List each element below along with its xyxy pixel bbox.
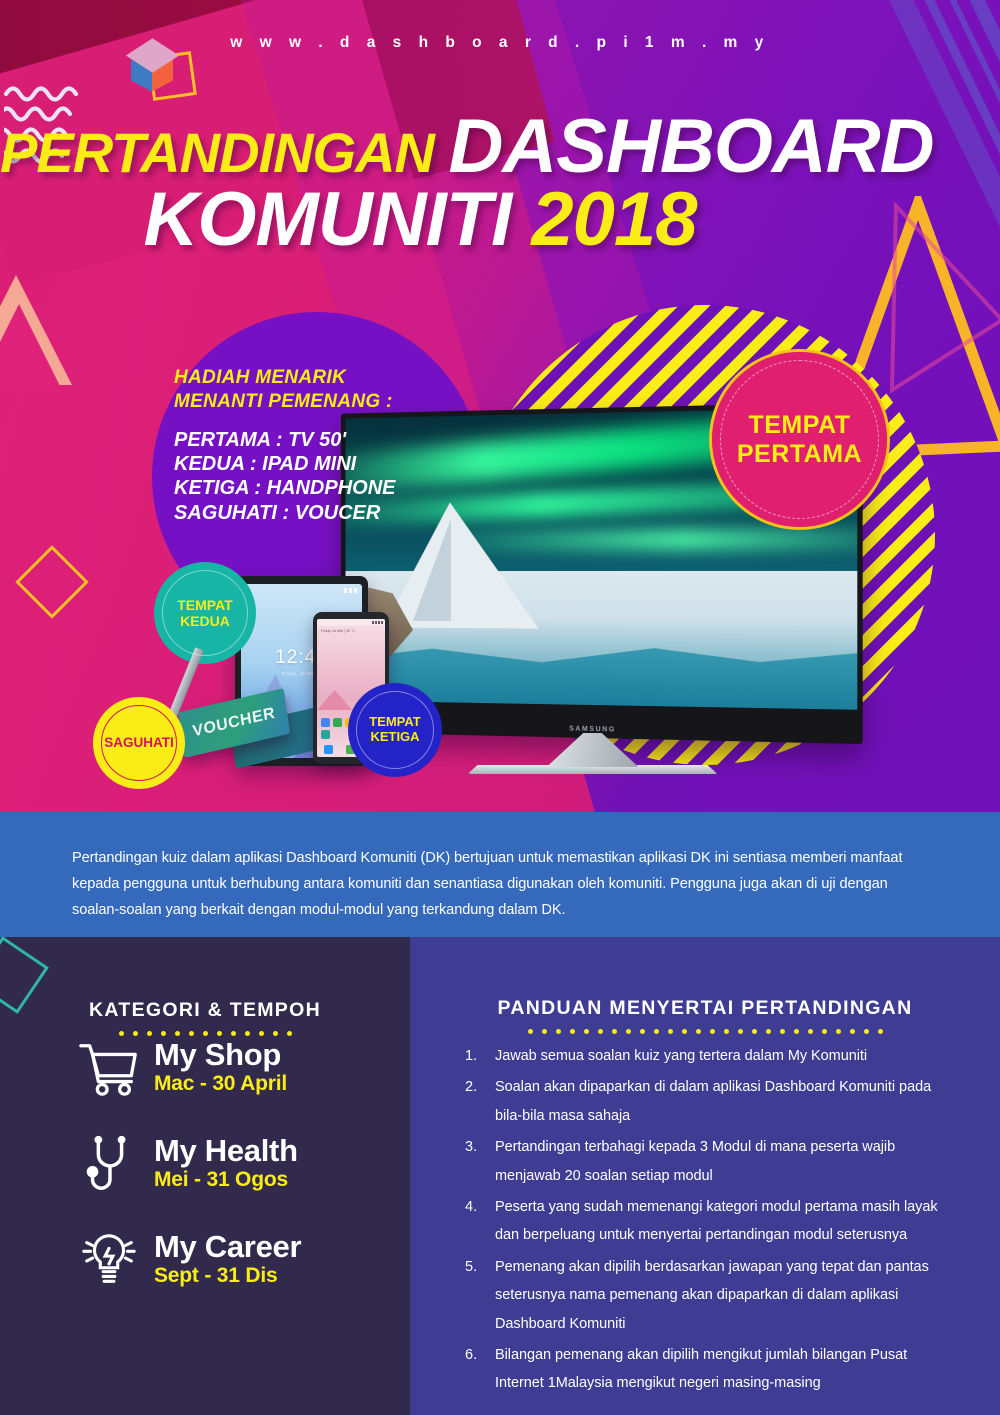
prize-item-4: SAGUHATI : VOUCER (174, 501, 504, 525)
category-item-my-career: My Career Sept - 31 Dis (0, 1229, 410, 1291)
category-period: Sept - 31 Dis (154, 1264, 301, 1288)
categories-heading: KATEGORI & TEMPOH (0, 999, 410, 1022)
guideline-text: Pemenang akan dipilih berdasarkan jawapa… (495, 1253, 950, 1338)
title-year: 2018 (531, 177, 696, 262)
guideline-text: Bilangan pemenang akan dipilih mengikut … (495, 1341, 950, 1398)
category-item-my-shop: My Shop Mac - 30 April (0, 1037, 410, 1099)
badge-second-line-1: TEMPAT (177, 597, 232, 613)
prize-heading-line-2: menanti pemenang : (174, 390, 504, 414)
prize-heading-line-1: Hadiah menarik (174, 366, 504, 390)
badge-first-line-1: TEMPAT (748, 411, 850, 440)
title-pertandingan: PERTANDINGAN (0, 121, 449, 184)
lightbulb-icon (78, 1229, 140, 1291)
phone-status-bar (317, 619, 385, 626)
prize-item-1: PERTAMA : TV 50' (174, 428, 504, 452)
stethoscope-icon (78, 1133, 140, 1195)
shopping-cart-icon (78, 1037, 140, 1099)
badge-first-line-2: PERTAMA (737, 440, 862, 469)
guideline-number: 5. (465, 1253, 495, 1338)
prize-item-3: KETIGA : HANDPHONE (174, 476, 504, 500)
title-line-1: PERTANDINGAN DASHBOARD (0, 112, 840, 183)
guidelines-heading: PANDUAN MENYERTAI PERTANDINGAN (410, 997, 1000, 1020)
tv-stand (468, 734, 718, 774)
guideline-item: 1. Jawab semua soalan kuiz yang tertera … (465, 1042, 950, 1070)
category-name: My Career (154, 1231, 301, 1262)
prize-list: Hadiah menarik menanti pemenang : PERTAM… (174, 366, 504, 525)
badge-second-line-2: KEDUA (180, 613, 230, 629)
category-period: Mei - 31 Ogos (154, 1168, 298, 1192)
guideline-text: Jawab semua soalan kuiz yang tertera dal… (495, 1042, 867, 1070)
badge-tempat-pertama: TEMPAT PERTAMA (712, 352, 887, 527)
phone-weather-widget: Friday 16 Mar | 30 °C (321, 629, 355, 633)
guideline-number: 3. (465, 1133, 495, 1190)
title-line-2: KOMUNITI 2018 (0, 185, 840, 256)
guideline-number: 2. (465, 1073, 495, 1130)
website-url: w w w . d a s h b o a r d . p i 1 m . m … (0, 34, 1000, 52)
title-komuniti: KOMUNITI (144, 177, 532, 262)
prize-item-2: KEDUA : IPAD MINI (174, 452, 504, 476)
badge-tempat-ketiga: TEMPAT KETIGA (351, 686, 439, 774)
peach-triangle-inner-decor (0, 304, 63, 392)
page-title: PERTANDINGAN DASHBOARD KOMUNITI 2018 (0, 112, 1000, 255)
badge-third-line-2: KETIGA (370, 730, 419, 745)
guidelines-list: 1. Jawab semua soalan kuiz yang tertera … (410, 1042, 950, 1401)
guideline-number: 6. (465, 1341, 495, 1398)
badge-saguhati-label: SAGUHATI (104, 735, 174, 751)
category-name: My Shop (154, 1039, 287, 1070)
tablet-status-bar (344, 588, 357, 593)
guideline-item: 5. Pemenang akan dipilih berdasarkan jaw… (465, 1253, 950, 1338)
guidelines-heading-dots-decor (410, 1029, 1000, 1034)
bottom-section: KATEGORI & TEMPOH (0, 937, 1000, 1415)
guideline-item: 4. Peserta yang sudah memenangi kategori… (465, 1193, 950, 1250)
guideline-number: 1. (465, 1042, 495, 1070)
category-name: My Health (154, 1135, 298, 1166)
guideline-item: 6. Bilangan pemenang akan dipilih mengik… (465, 1341, 950, 1398)
voucher-label: VOUCHER (192, 705, 277, 742)
guideline-number: 4. (465, 1193, 495, 1250)
hero-section: w w w . d a s h b o a r d . p i 1 m . m … (0, 0, 1000, 812)
tv-brand-label: SAMSUNG (569, 726, 616, 734)
category-period: Mac - 30 April (154, 1072, 287, 1096)
badge-third-line-1: TEMPAT (369, 715, 421, 730)
category-list: My Shop Mac - 30 April (0, 1037, 410, 1325)
guideline-item: 2. Soalan akan dipaparkan di dalam aplik… (465, 1073, 950, 1130)
poster-root: w w w . d a s h b o a r d . p i 1 m . m … (0, 0, 1000, 1415)
description-band: Pertandingan kuiz dalam aplikasi Dashboa… (0, 812, 1000, 937)
category-item-my-health: My Health Mei - 31 Ogos (0, 1133, 410, 1195)
guideline-item: 3. Pertandingan terbahagi kepada 3 Modul… (465, 1133, 950, 1190)
guideline-text: Pertandingan terbahagi kepada 3 Modul di… (495, 1133, 950, 1190)
guideline-text: Peserta yang sudah memenangi kategori mo… (495, 1193, 950, 1250)
badge-tempat-kedua: TEMPAT KEDUA (157, 565, 253, 661)
guidelines-heading-block: PANDUAN MENYERTAI PERTANDINGAN (410, 997, 1000, 1034)
categories-panel: KATEGORI & TEMPOH (0, 937, 410, 1415)
guideline-text: Soalan akan dipaparkan di dalam aplikasi… (495, 1073, 950, 1130)
badge-saguhati: SAGUHATI (96, 700, 182, 786)
description-paragraph: Pertandingan kuiz dalam aplikasi Dashboa… (72, 846, 928, 924)
categories-heading-dots-decor (0, 1031, 410, 1036)
